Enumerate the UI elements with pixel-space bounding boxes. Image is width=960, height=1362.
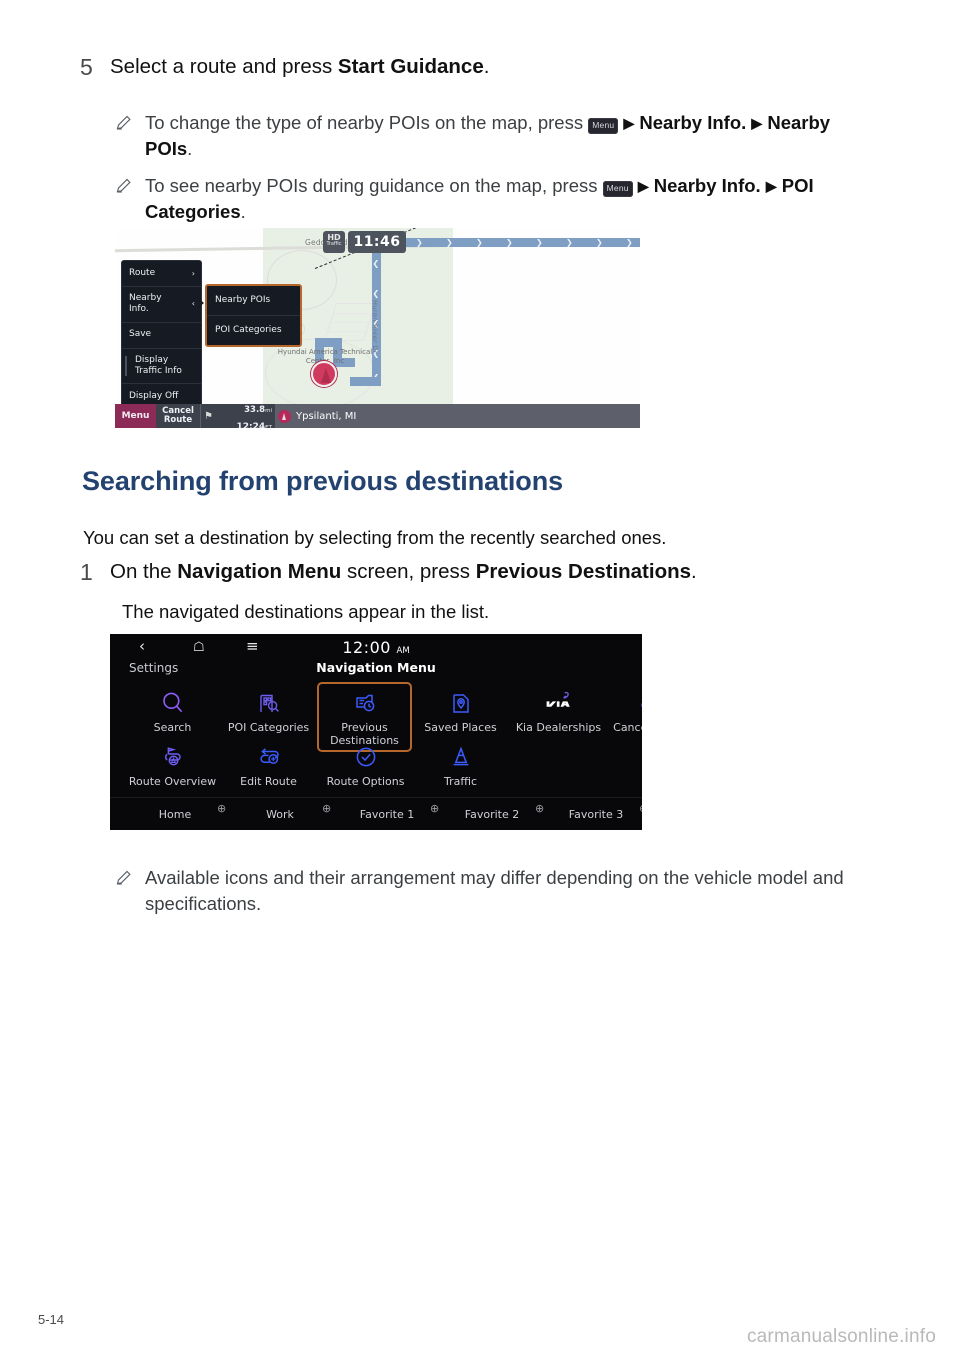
navigation-menu-grid: Search POI Categories bbox=[110, 686, 642, 796]
checkered-flag-icon: ⚑ bbox=[204, 411, 213, 422]
menu-item-route-overview[interactable]: Route Overview bbox=[124, 740, 221, 789]
map-menu-label: Nearby Info. bbox=[129, 293, 177, 316]
step-1-subline: The navigated destinations appear in the… bbox=[122, 599, 862, 625]
cancel-route-icon bbox=[601, 686, 642, 720]
shortcut-work-label: Work bbox=[266, 808, 294, 821]
chevron-right-icon: › bbox=[192, 269, 195, 279]
navigation-menu-screenshot: ‹ ☖ ≡ 12:00 AM Settings Navigation Menu … bbox=[110, 634, 642, 830]
arrow-2: ▶ bbox=[751, 115, 762, 131]
cancel-route-line2: Route bbox=[164, 416, 192, 425]
note-poi-categories-text: To see nearby POIs during guidance on th… bbox=[145, 173, 875, 226]
note-tail-2: . bbox=[241, 201, 246, 222]
shortcut-favorite-2-label: Favorite 2 bbox=[465, 808, 519, 821]
shortcut-home-label: Home bbox=[159, 808, 191, 821]
map-menu-label: Save bbox=[129, 329, 151, 340]
scroll-indicator bbox=[125, 356, 127, 377]
plus-circle-icon[interactable]: ⊕ bbox=[430, 802, 439, 815]
shortcut-favorite-3[interactable]: Favorite 3 ⊕ bbox=[551, 808, 641, 821]
shortcut-favorite-1[interactable]: Favorite 1 ⊕ bbox=[342, 808, 432, 821]
poi-categories-icon bbox=[220, 686, 317, 720]
menu-item-label: Edit Route bbox=[220, 776, 317, 789]
map-menu-button[interactable]: Menu bbox=[115, 404, 156, 428]
map-bottom-bar: Menu Cancel Route ⚑ 33.8mi 12:24ET Ypsil… bbox=[115, 404, 640, 428]
note-text-2: To see nearby POIs during guidance on th… bbox=[145, 175, 603, 196]
menu-item-poi-categories[interactable]: POI Categories bbox=[220, 686, 317, 735]
map-destination-text: Ypsilanti, MI bbox=[296, 411, 356, 422]
section-lead: You can set a destination by selecting f… bbox=[83, 525, 843, 551]
page-number: 5-14 bbox=[38, 1312, 64, 1327]
menu-item-kia-dealerships[interactable]: Kia Dealerships bbox=[510, 686, 607, 735]
plus-circle-icon[interactable]: ⊕ bbox=[639, 802, 642, 815]
map-vehicle-position-marker bbox=[311, 361, 337, 387]
saved-places-icon bbox=[412, 686, 509, 720]
hd-traffic-subtitle: Traffic bbox=[323, 242, 345, 247]
menu-item-saved-places[interactable]: Saved Places bbox=[412, 686, 509, 735]
step-1-bold-previous-destinations: Previous Destinations bbox=[476, 560, 691, 583]
map-road-label-vertical: Huron River Dr bbox=[371, 300, 379, 354]
menu-item-label: Route Overview bbox=[124, 776, 221, 789]
map-menu-item-display-traffic-info[interactable]: Display Traffic Info bbox=[122, 349, 201, 385]
map-route-bottom bbox=[350, 377, 381, 386]
search-icon bbox=[124, 686, 221, 720]
map-menu-label: Display Off bbox=[129, 391, 178, 402]
route-options-icon bbox=[317, 740, 414, 774]
head-unit-meridiem: AM bbox=[397, 646, 410, 656]
map-menu-item-route[interactable]: Route › bbox=[122, 261, 201, 287]
step-5-bold: Start Guidance bbox=[338, 55, 484, 78]
head-unit-time: 12:00 bbox=[342, 638, 391, 657]
hd-traffic-icon: HD Traffic bbox=[323, 231, 345, 253]
menu-item-label: Route Options bbox=[317, 776, 414, 789]
step-1: 1 On the Navigation Menu screen, press P… bbox=[80, 558, 880, 587]
shortcut-favorite-3-label: Favorite 3 bbox=[569, 808, 623, 821]
plus-circle-icon[interactable]: ⊕ bbox=[322, 802, 331, 815]
kia-dealerships-label: Kia Dealerships bbox=[516, 721, 601, 734]
map-eta-panel[interactable]: ⚑ 33.8mi 12:24ET bbox=[201, 404, 275, 428]
menu-item-edit-route[interactable]: Edit Route bbox=[220, 740, 317, 789]
plus-circle-icon[interactable]: ⊕ bbox=[217, 802, 226, 815]
map-menu-item-nearby-info[interactable]: Nearby Info. ‹ bbox=[122, 287, 201, 323]
note-nearby-pois: To change the type of nearby POIs on the… bbox=[115, 110, 875, 163]
kia-logo-icon bbox=[510, 686, 607, 720]
menu-item-label: Search bbox=[124, 722, 221, 735]
pencil-note-icon bbox=[115, 865, 145, 891]
menu-item-label: Cancel Route bbox=[601, 722, 642, 735]
map-menu-label: Display Traffic Info bbox=[129, 355, 194, 378]
step-5-text-before: Select a route and press bbox=[110, 55, 338, 78]
note-bold-nearby-info-2: Nearby Info. bbox=[654, 175, 761, 196]
arrow-4: ▶ bbox=[766, 178, 777, 194]
submenu-pointer-icon bbox=[198, 298, 204, 308]
shortcut-home[interactable]: Home ⊕ bbox=[135, 808, 215, 821]
menu-item-traffic[interactable]: Traffic bbox=[412, 740, 509, 789]
head-unit-clock: 12:00 AM bbox=[110, 638, 642, 657]
map-route-horizontal: ❯ ❯ ❯ ❯ ❯ ❯ ❯ ❯ ❯ bbox=[372, 238, 640, 247]
manual-page: 5 Select a route and press Start Guidanc… bbox=[0, 0, 960, 1362]
map-eta-unit: ET bbox=[265, 425, 272, 428]
head-unit-title: Navigation Menu bbox=[110, 660, 642, 675]
note-nearby-pois-text: To change the type of nearby POIs on the… bbox=[145, 110, 875, 163]
shortcut-work[interactable]: Work ⊕ bbox=[240, 808, 320, 821]
map-eta: 12:24 bbox=[237, 422, 266, 428]
map-clock: 11:46 bbox=[348, 231, 406, 253]
map-eta-values: 33.8mi 12:24ET bbox=[215, 399, 272, 428]
head-unit-sub-bar: Settings Navigation Menu bbox=[110, 660, 642, 684]
note-text-1: To change the type of nearby POIs on the… bbox=[145, 112, 588, 133]
edit-route-icon bbox=[220, 740, 317, 774]
step-5-text-after: . bbox=[484, 55, 490, 78]
map-submenu-item-poi-categories[interactable]: POI Categories bbox=[207, 316, 300, 345]
map-screenshot: Geddes Rd ❯ ❯ ❯ ❯ ❯ ❯ ❯ ❯ ❯ ❮ ❮ ❮ ❮ ❮ Hu… bbox=[115, 228, 640, 428]
menu-item-route-options[interactable]: Route Options bbox=[317, 740, 414, 789]
step-1-bold-navigation-menu: Navigation Menu bbox=[177, 560, 341, 583]
menu-item-label: Saved Places bbox=[412, 722, 509, 735]
plus-circle-icon[interactable]: ⊕ bbox=[535, 802, 544, 815]
destination-marker-icon bbox=[278, 410, 291, 423]
section-title: Searching from previous destinations bbox=[82, 466, 563, 497]
step-5: 5 Select a route and press Start Guidanc… bbox=[80, 53, 880, 82]
step-1-number: 1 bbox=[80, 558, 110, 587]
chevron-left-icon: ‹ bbox=[192, 299, 195, 309]
menu-item-label: POI Categories bbox=[220, 722, 317, 735]
map-distance-unit: mi bbox=[265, 408, 272, 414]
shortcut-favorite-2[interactable]: Favorite 2 ⊕ bbox=[447, 808, 537, 821]
map-distance: 33.8 bbox=[244, 405, 265, 415]
watermark: carmanualsonline.info bbox=[747, 1326, 936, 1348]
menu-badge-icon: Menu bbox=[603, 181, 633, 197]
note-poi-categories: To see nearby POIs during guidance on th… bbox=[115, 173, 875, 226]
map-submenu-panel[interactable]: Nearby POIs POI Categories bbox=[205, 284, 302, 347]
shortcut-favorite-1-label: Favorite 1 bbox=[360, 808, 414, 821]
map-menu-item-save[interactable]: Save bbox=[122, 323, 201, 349]
pencil-note-icon bbox=[115, 110, 145, 136]
note-bold-nearby-info: Nearby Info. bbox=[639, 112, 746, 133]
arrow-1: ▶ bbox=[623, 115, 634, 131]
head-unit-shortcut-bar: Home ⊕ Work ⊕ Favorite 1 ⊕ Favorite 2 ⊕ … bbox=[110, 797, 642, 830]
step-5-text: Select a route and press Start Guidance. bbox=[110, 53, 489, 80]
menu-badge-icon: Menu bbox=[588, 118, 618, 134]
step-5-number: 5 bbox=[80, 53, 110, 82]
step-1-p2: screen, press bbox=[341, 560, 475, 583]
step-1-text: On the Navigation Menu screen, press Pre… bbox=[110, 558, 697, 585]
pencil-note-icon bbox=[115, 173, 145, 199]
route-overview-label: Route Overview bbox=[129, 775, 216, 788]
menu-item-cancel-route[interactable]: Cancel Route bbox=[601, 686, 642, 735]
menu-item-label: Traffic bbox=[412, 776, 509, 789]
route-overview-icon bbox=[124, 740, 221, 774]
note-icons-arrangement: Available icons and their arrangement ma… bbox=[115, 865, 875, 918]
map-cancel-route-button[interactable]: Cancel Route bbox=[156, 404, 200, 428]
map-submenu-item-nearby-pois[interactable]: Nearby POIs bbox=[207, 286, 300, 316]
poi-categories-label: POI Categories bbox=[228, 721, 309, 734]
arrow-3: ▶ bbox=[638, 178, 649, 194]
step-1-p1: On the bbox=[110, 560, 177, 583]
step-1-p3: . bbox=[691, 560, 697, 583]
map-menu-panel[interactable]: Route › Nearby Info. ‹ Save Display Traf… bbox=[122, 261, 201, 410]
note-tail-1: . bbox=[187, 138, 192, 159]
note-icons-arrangement-text: Available icons and their arrangement ma… bbox=[145, 865, 859, 918]
traffic-cone-icon bbox=[412, 740, 509, 774]
head-unit-status-bar: ‹ ☖ ≡ 12:00 AM bbox=[110, 634, 642, 660]
previous-destinations-icon bbox=[319, 686, 410, 720]
menu-item-label: Kia Dealerships bbox=[510, 722, 607, 735]
map-destination-label[interactable]: Ypsilanti, MI bbox=[278, 404, 356, 428]
map-menu-label: Route bbox=[129, 268, 155, 279]
menu-item-search[interactable]: Search bbox=[124, 686, 221, 735]
